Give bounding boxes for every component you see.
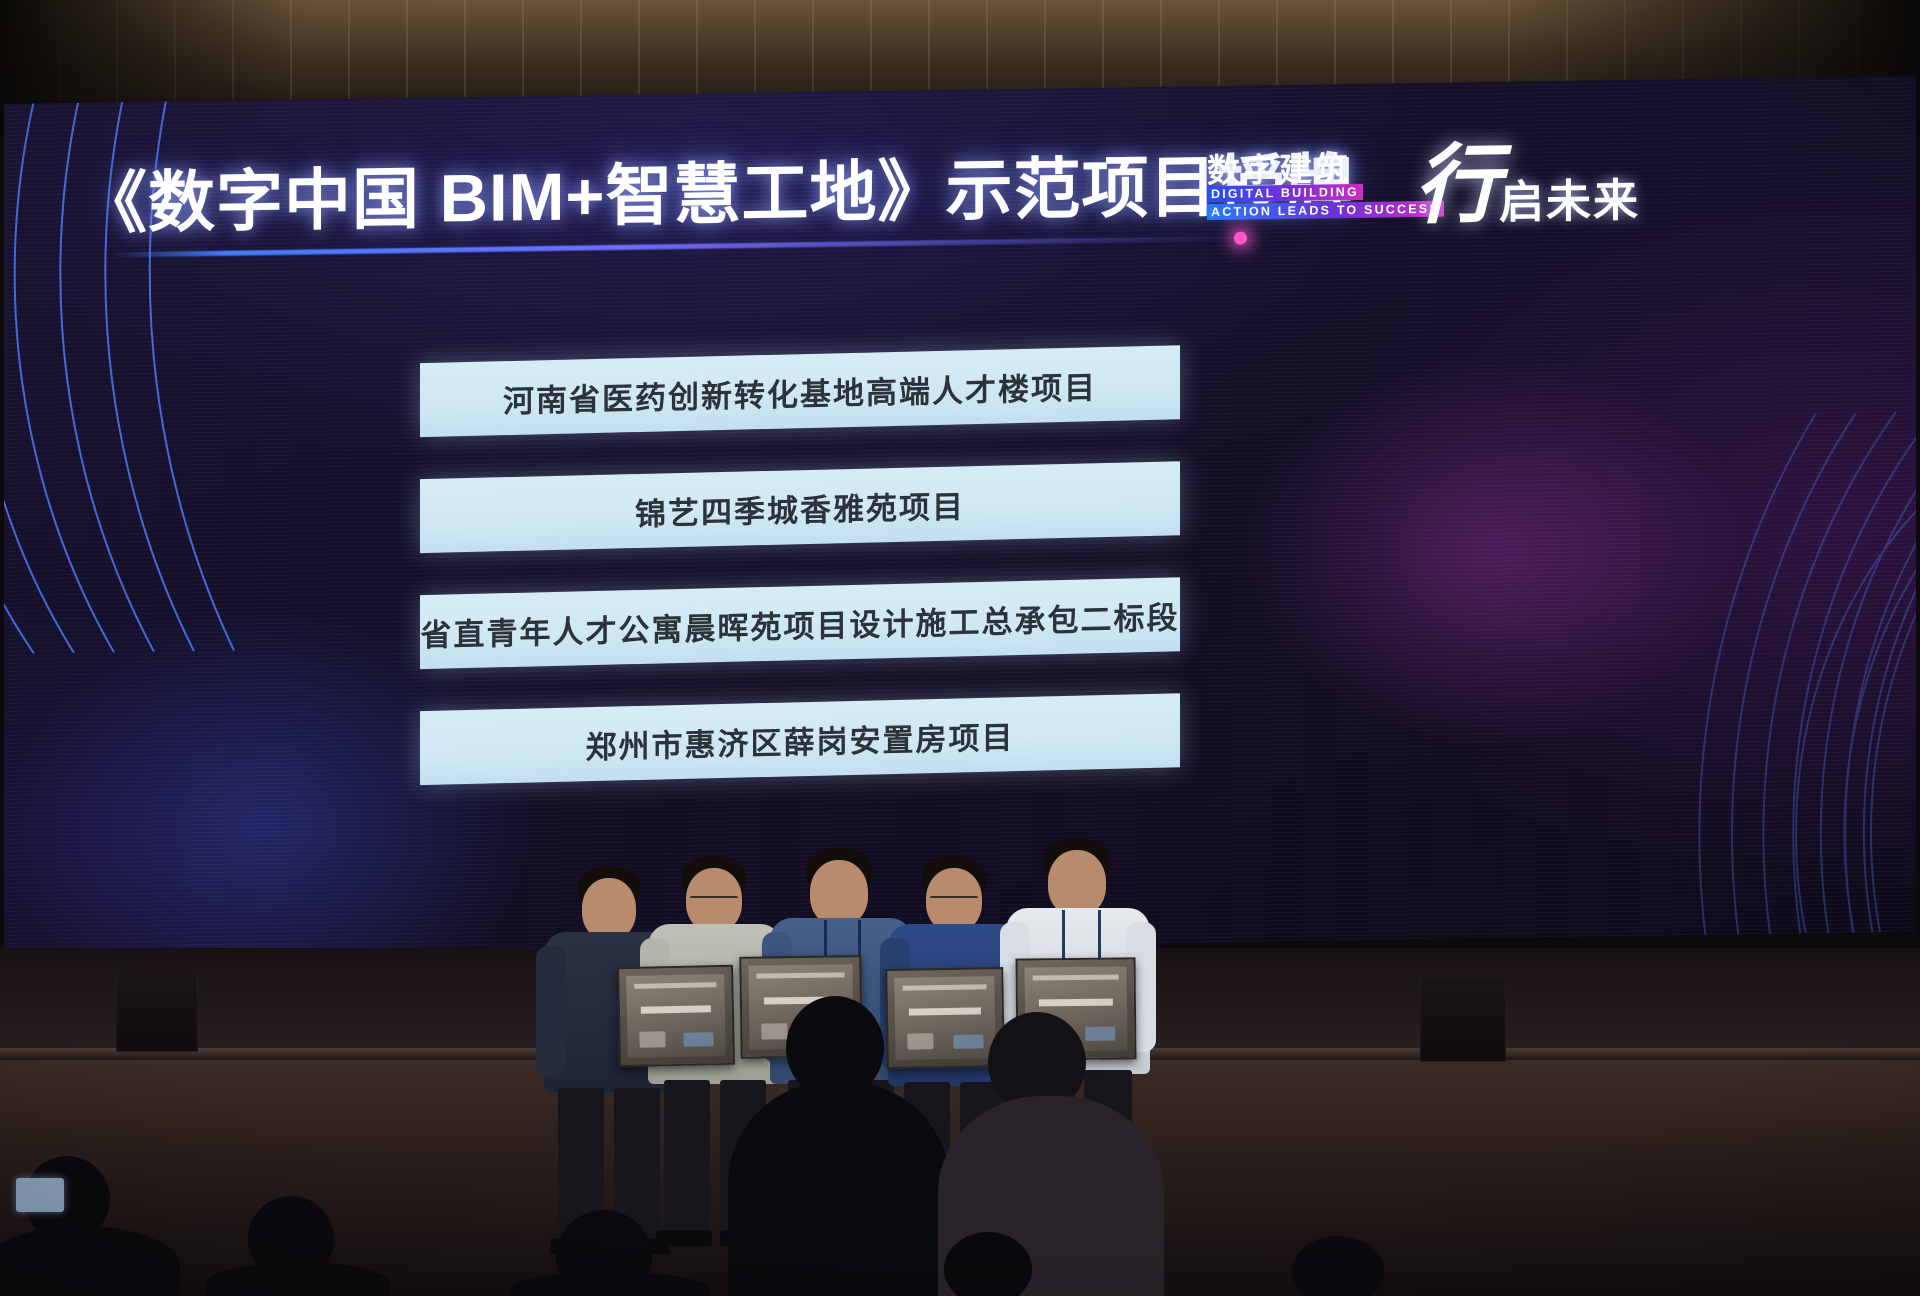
project-panel: 郑州市惠济区薛岗安置房项目 bbox=[420, 693, 1180, 785]
stage-speaker-left bbox=[116, 972, 198, 1052]
project-panel-label: 河南省医药创新转化基地高端人才楼项目 bbox=[503, 362, 1097, 421]
plaque-main-line bbox=[1039, 999, 1113, 1007]
glasses-icon bbox=[930, 896, 978, 904]
stage-speaker-right bbox=[1420, 978, 1506, 1062]
project-panel-label: 省直青年人才公寓晨晖苑项目设计施工总承包二标段 bbox=[421, 592, 1180, 655]
arc-motif-right-icon bbox=[1316, 406, 1916, 960]
plaque-top-line bbox=[757, 973, 844, 979]
plaque-top-line bbox=[902, 984, 986, 990]
audience-head bbox=[1292, 1236, 1384, 1296]
audience-head bbox=[944, 1232, 1032, 1296]
led-screen-content: 《数字中国 BIM+智慧工地》示范项目授牌 数字建筑 DIGITAL BUILD… bbox=[4, 76, 1916, 960]
plaque-seal-right-icon bbox=[684, 1032, 714, 1047]
photo-scene: 《数字中国 BIM+智慧工地》示范项目授牌 数字建筑 DIGITAL BUILD… bbox=[0, 0, 1920, 1296]
project-panel-label: 锦艺四季城香雅苑项目 bbox=[635, 481, 965, 534]
project-panel: 省直青年人才公寓晨晖苑项目设计施工总承包二标段 bbox=[420, 577, 1180, 669]
plaque-seal-right-icon bbox=[953, 1035, 983, 1050]
plaque-seal-left-icon bbox=[762, 1023, 788, 1039]
plaque-seal-left-icon bbox=[907, 1033, 933, 1049]
shoe-left bbox=[656, 1230, 712, 1246]
arm-left bbox=[536, 946, 566, 1076]
plaque-main-line bbox=[641, 1005, 712, 1013]
event-logo: 数字建筑 DIGITAL BUILDING ACTION LEADS TO SU… bbox=[1199, 114, 1899, 236]
event-logo-script-char: 行 bbox=[1414, 114, 1500, 240]
project-panel-list: 河南省医药创新转化基地高端人才楼项目 锦艺四季城香雅苑项目 省直青年人才公寓晨晖… bbox=[420, 349, 1180, 824]
glasses-icon bbox=[690, 896, 738, 904]
head bbox=[582, 878, 636, 940]
led-screen: 《数字中国 BIM+智慧工地》示范项目授牌 数字建筑 DIGITAL BUILD… bbox=[4, 76, 1916, 960]
award-plaque bbox=[617, 965, 735, 1067]
leg-left bbox=[664, 1080, 710, 1238]
plaque-top-line bbox=[634, 982, 716, 989]
plaque-main-line bbox=[909, 1008, 981, 1016]
plaque-face bbox=[894, 976, 995, 1060]
event-logo-en-line2: ACTION LEADS TO SUCCESS bbox=[1207, 201, 1444, 221]
plaque-seal-left-icon bbox=[639, 1031, 665, 1048]
plaque-top-line bbox=[1033, 975, 1119, 981]
head bbox=[810, 860, 868, 926]
project-panel-label: 郑州市惠济区薛岗安置房项目 bbox=[586, 712, 1015, 767]
award-plaque bbox=[885, 967, 1005, 1069]
title-accent-dot-icon bbox=[1234, 232, 1247, 245]
screen-title: 《数字中国 BIM+智慧工地》示范项目授牌 bbox=[80, 151, 1354, 237]
phone-screen bbox=[16, 1178, 64, 1212]
event-logo-tagline: 启未来 bbox=[1499, 164, 1640, 231]
event-logo-en-line1: DIGITAL BUILDING bbox=[1207, 184, 1363, 202]
project-panel: 锦艺四季城香雅苑项目 bbox=[420, 461, 1180, 553]
project-panel: 河南省医药创新转化基地高端人才楼项目 bbox=[420, 345, 1180, 437]
plaque-face bbox=[626, 974, 726, 1058]
plaque-seal-right-icon bbox=[1085, 1027, 1115, 1041]
head bbox=[1048, 850, 1106, 916]
